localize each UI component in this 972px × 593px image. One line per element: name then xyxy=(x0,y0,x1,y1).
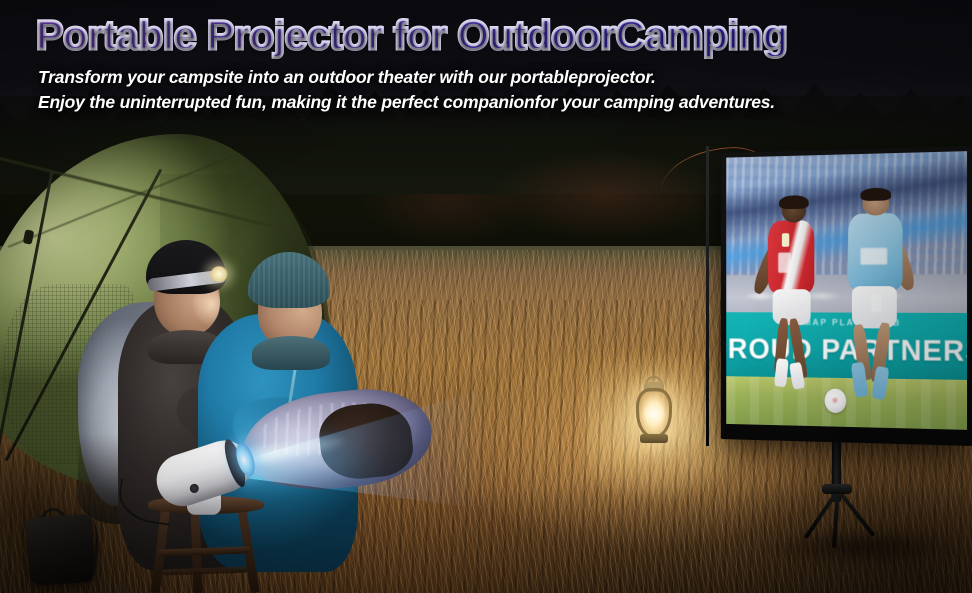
lantern-flame xyxy=(644,404,664,424)
screen-display-area: RAMAP PLA UVA FB PROUD PARTNERS xyxy=(726,151,967,430)
projection-screen: RAMAP PLA UVA FB PROUD PARTNERS xyxy=(706,146,972,446)
lantern-base xyxy=(640,434,668,443)
stool-rung xyxy=(162,567,248,576)
player-red-jersey xyxy=(768,221,815,293)
banner-subtitle: Transform your campsite into an outdoor … xyxy=(38,65,950,116)
player-red-kit xyxy=(763,198,824,399)
player-blue-sponsor-logo xyxy=(860,247,887,264)
banner-copy: Portable Projector for OutdoorCamping Tr… xyxy=(0,0,972,116)
subtitle-line-1: Transform your campsite into an outdoor … xyxy=(38,65,950,90)
player-blue-kit xyxy=(844,191,912,406)
screen-bezel-edge xyxy=(706,146,709,446)
player-blue-hair xyxy=(860,187,891,200)
subtitle-line-2: Enjoy the uninterrupted fun, making it t… xyxy=(38,90,950,115)
player-red-number xyxy=(778,253,791,273)
player-blue-number xyxy=(871,295,882,312)
player-red-sock xyxy=(774,358,788,387)
stool-rung xyxy=(158,546,250,556)
player-red-hair xyxy=(779,195,808,209)
player-red-badge xyxy=(782,233,789,247)
screen-frame: RAMAP PLA UVA FB PROUD PARTNERS xyxy=(721,146,972,446)
camper-b-beanie xyxy=(248,252,330,308)
soccer-ball xyxy=(825,388,847,413)
tripod-leg xyxy=(836,489,875,537)
page-title: Portable Projector for OutdoorCamping xyxy=(36,14,950,57)
camper-b-collar xyxy=(252,336,330,370)
camping-lantern xyxy=(632,382,676,444)
screen-tripod-stand xyxy=(792,436,922,546)
tripod-hub xyxy=(822,484,852,494)
promo-banner: RAMAP PLA UVA FB PROUD PARTNERS xyxy=(0,0,972,593)
